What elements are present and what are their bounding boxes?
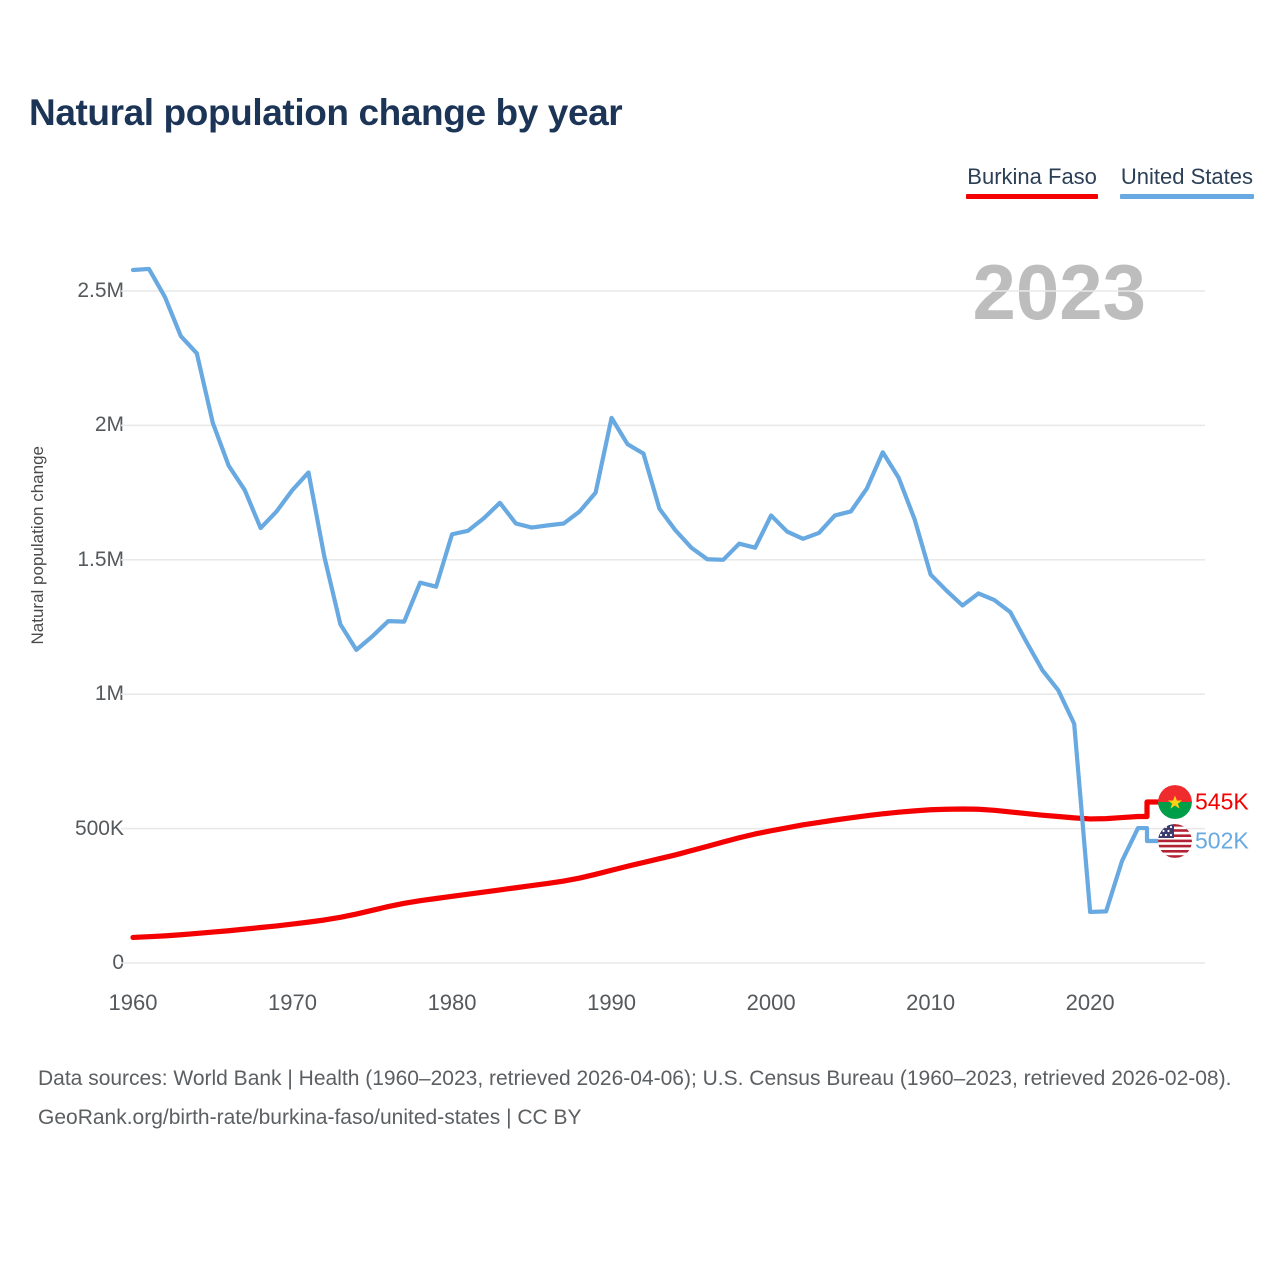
chart-page: Natural population change by year Burkin… — [0, 0, 1280, 1280]
x-tick-label: 1980 — [428, 990, 477, 1016]
x-tick-label: 2020 — [1066, 990, 1115, 1016]
x-tick-label: 1990 — [587, 990, 636, 1016]
footer-sources-text: Data sources: World Bank | Health (1960–… — [38, 1067, 1018, 1090]
burkina-faso-flag-icon — [1158, 785, 1192, 819]
y-tick-label: 500K — [75, 817, 124, 841]
gridlines — [121, 291, 1205, 963]
end-connector-burkina-faso — [1138, 802, 1159, 817]
y-tick-label: 1M — [95, 682, 124, 706]
series-line-united-states — [133, 269, 1138, 912]
x-tick-label: 1970 — [268, 990, 317, 1016]
series-line-burkina-faso — [133, 809, 1138, 937]
chart-legend: Burkina Faso United States — [966, 164, 1254, 199]
x-tick-label: 1960 — [109, 990, 158, 1016]
x-tick-label: 2000 — [747, 990, 796, 1016]
y-tick-label: 2M — [95, 413, 124, 437]
footer-url-line: GeoRank.org/birth-rate/burkina-faso/unit… — [38, 1101, 1248, 1135]
end-connector-united-states — [1138, 828, 1159, 841]
legend-rule-united-states — [1120, 194, 1254, 199]
legend-label-burkina-faso: Burkina Faso — [966, 164, 1098, 190]
end-value-label: 502K — [1195, 828, 1249, 855]
y-tick-label: 1.5M — [77, 548, 124, 572]
y-tick-label: 0 — [112, 951, 124, 975]
united-states-flag-icon — [1158, 824, 1192, 858]
x-tick-label: 2010 — [906, 990, 955, 1016]
footer-credits: Data sources: World Bank | Health (1960–… — [38, 1062, 1248, 1135]
footer-sources-text-cont: retrieved 2026-02-08). — [1024, 1067, 1232, 1090]
end-value-label: 545K — [1195, 789, 1249, 816]
legend-rule-burkina-faso — [966, 194, 1098, 199]
legend-item-united-states[interactable]: United States — [1120, 164, 1254, 199]
legend-label-united-states: United States — [1120, 164, 1254, 190]
footer-sources-line: Data sources: World Bank | Health (1960–… — [38, 1062, 1248, 1096]
y-tick-label: 2.5M — [77, 279, 124, 303]
series-lines — [133, 269, 1159, 938]
legend-item-burkina-faso[interactable]: Burkina Faso — [966, 164, 1098, 199]
year-watermark: 2023 — [972, 253, 1146, 331]
